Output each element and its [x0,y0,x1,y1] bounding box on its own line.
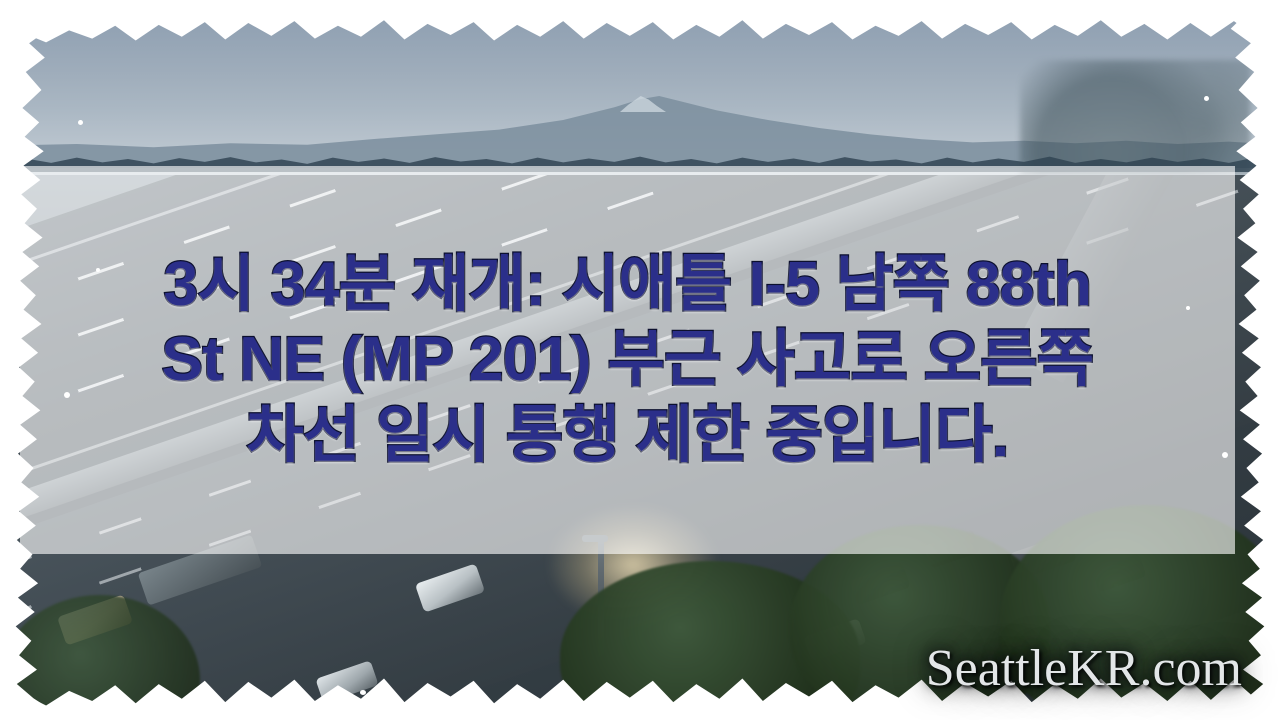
caption-line-3: 차선 일시 통행 제한 중입니다. [246,399,1008,472]
caption-band: 3시 34분 재개: 시애틀 I-5 남쪽 88th St NE (MP 201… [20,166,1235,554]
alert-card: 3시 34분 재개: 시애틀 I-5 남쪽 88th St NE (MP 201… [0,0,1280,720]
site-watermark: SeattleKR.com [926,639,1242,698]
upper-right-tree-mass [1020,60,1250,175]
caption-line-2: St NE (MP 201) 부근 사고로 오른쪽 [162,323,1094,396]
caption-line-1: 3시 34분 재개: 시애틀 I-5 남쪽 88th [164,248,1092,321]
